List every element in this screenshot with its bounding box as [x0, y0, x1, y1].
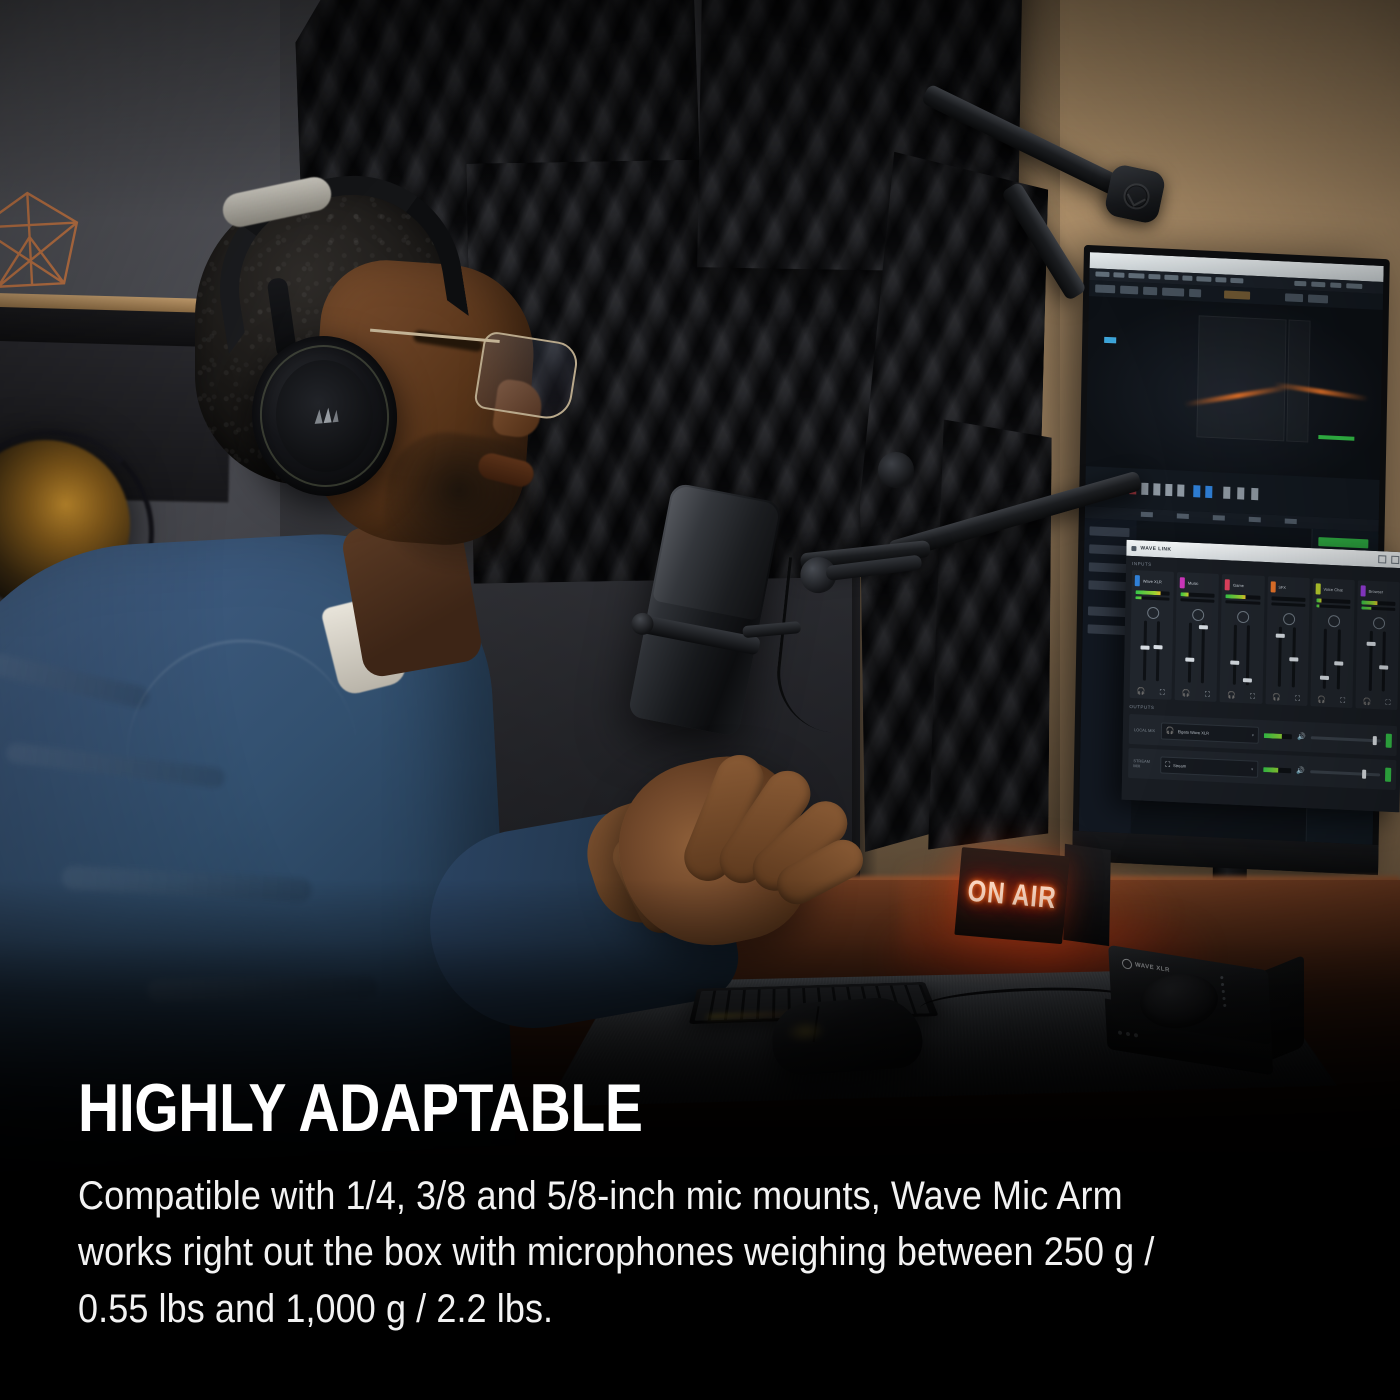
on-air-text: ON AIR: [966, 874, 1058, 917]
broadcast-icon: ⛶: [1250, 693, 1255, 700]
outputs-section-label: OUTPUTS: [1129, 704, 1154, 710]
output-device-select[interactable]: 🎧 Elgato Wave XLR ▾: [1161, 722, 1259, 743]
broadcast-icon: ⛶: [1295, 695, 1300, 702]
headphone-icon: 🎧: [1272, 694, 1281, 701]
output-active-indicator: [1385, 768, 1391, 782]
channel-meter: [1136, 590, 1170, 596]
output-meter: [1263, 767, 1291, 773]
on-air-sign: ON AIR: [957, 851, 1109, 942]
channel-fader-local[interactable]: [1323, 629, 1327, 689]
marketing-hero-image: WAVE LINK INPUTS Wave XLR ▾ 🎧⛶: [0, 0, 1400, 1400]
wave-link-body: INPUTS Wave XLR ▾ 🎧⛶ Music ▾: [1122, 556, 1400, 813]
channel-meter: [1361, 600, 1395, 606]
channel-name: Voice Chat: [1323, 587, 1342, 593]
output-label: LOCAL MIX: [1134, 727, 1156, 733]
channel-name: Wave XLR: [1143, 578, 1162, 584]
channel-meter-secondary: [1135, 596, 1169, 601]
headphone-icon: 🎧: [1317, 696, 1326, 703]
wave-link-app-icon: [1131, 545, 1136, 550]
channel-fader-local[interactable]: [1143, 621, 1147, 681]
channel-knob-icon[interactable]: [1192, 609, 1204, 622]
mixer-channel[interactable]: Voice Chat ▾ 🎧⛶: [1310, 578, 1355, 708]
wave-link-window-title: WAVE LINK: [1140, 545, 1171, 552]
broadcast-icon: ⛶: [1205, 691, 1210, 698]
channel-knob-icon[interactable]: [1237, 611, 1249, 624]
chevron-down-icon[interactable]: ▾: [1251, 766, 1253, 771]
speaker-icon: 🔊: [1296, 767, 1305, 774]
headline: HIGHLY ADAPTABLE: [78, 1075, 1128, 1142]
channel-meter-secondary: [1271, 602, 1305, 607]
channel-meter: [1181, 592, 1215, 598]
mixer-channel[interactable]: Wave XLR ▾ 🎧⛶: [1130, 570, 1175, 700]
channel-meter: [1226, 594, 1260, 600]
eyeglass-temple: [370, 329, 500, 343]
mixer-channel[interactable]: Game ▾ 🎧⛶: [1220, 574, 1265, 704]
channel-fader-local[interactable]: [1233, 625, 1237, 685]
channel-meter: [1271, 596, 1305, 602]
channel-color-swatch: [1180, 577, 1185, 588]
channel-knob-icon[interactable]: [1328, 615, 1340, 628]
mixer-channel[interactable]: Music ▾ 🎧⛶: [1175, 572, 1220, 702]
chevron-down-icon[interactable]: ▾: [1252, 732, 1254, 737]
output-volume-slider[interactable]: [1310, 770, 1380, 776]
corsair-sails-logo-icon: [308, 405, 342, 428]
overlay-copy: HIGHLY ADAPTABLE Compatible with 1/4, 3/…: [78, 1075, 1328, 1338]
channel-color-swatch: [1315, 583, 1320, 594]
channel-color-swatch: [1360, 585, 1365, 596]
channel-fader-local[interactable]: [1278, 627, 1282, 687]
output-mixes[interactable]: LOCAL MIX 🎧 Elgato Wave XLR ▾ 🔊 STREAM M…: [1128, 714, 1397, 808]
speaker-icon: 🔊: [1297, 733, 1306, 740]
channel-knob-icon[interactable]: [1283, 613, 1295, 626]
broadcast-icon: ⛶: [1385, 700, 1390, 707]
channel-meter-secondary: [1226, 600, 1260, 605]
channel-color-swatch: [1270, 581, 1275, 592]
channel-meter-secondary: [1361, 606, 1395, 611]
on-air-sign-side: [1063, 844, 1111, 946]
channel-meter-secondary: [1181, 598, 1215, 603]
mic-arm-elbow-joint: [1103, 163, 1167, 225]
channel-name: Game: [1233, 583, 1244, 588]
mixer-channel-strips[interactable]: Wave XLR ▾ 🎧⛶ Music ▾: [1130, 570, 1400, 710]
inputs-section-label: INPUTS: [1132, 561, 1152, 567]
window-controls[interactable]: [1378, 555, 1399, 564]
headphone-icon: 🎧: [1137, 688, 1146, 695]
broadcast-icon: ⛶: [1165, 761, 1170, 768]
headphone-icon: 🎧: [1182, 690, 1191, 697]
output-label: STREAM MIX: [1133, 758, 1155, 769]
minimize-icon: [1378, 555, 1386, 563]
output-device-select[interactable]: ⛶ Stream ▾: [1160, 756, 1258, 777]
channel-meter-secondary: [1316, 604, 1350, 609]
mixer-channel[interactable]: Browser ▾ 🎧⛶: [1355, 580, 1400, 710]
output-volume-slider[interactable]: [1311, 736, 1381, 742]
mic-arm-mid-joint: [878, 452, 914, 488]
channel-fader-stream[interactable]: [1246, 625, 1250, 685]
channel-name: Browser: [1368, 589, 1383, 595]
output-device-name: Stream: [1173, 762, 1186, 768]
channel-name: Music: [1188, 581, 1199, 586]
acoustic-foam-panel: [928, 419, 1052, 850]
broadcast-icon: ⛶: [1160, 689, 1165, 696]
on-air-sign-face: ON AIR: [954, 847, 1069, 944]
mixer-channel[interactable]: SFX ▾ 🎧⛶: [1265, 576, 1310, 706]
channel-fader-stream[interactable]: [1201, 623, 1205, 683]
channel-fader-local[interactable]: [1188, 623, 1192, 683]
headphone-icon: 🎧: [1362, 699, 1371, 706]
daw-video-canvas: [1086, 296, 1383, 480]
channel-fader-stream[interactable]: [1156, 621, 1160, 681]
channel-fader-stream[interactable]: [1337, 629, 1341, 689]
body-copy: Compatible with 1/4, 3/8 and 5/8-inch mi…: [78, 1168, 1203, 1338]
channel-meter: [1316, 598, 1350, 604]
eyeglass-lens: [473, 330, 580, 422]
channel-fader-local[interactable]: [1368, 631, 1372, 691]
output-meter: [1264, 733, 1292, 739]
wave-link-window[interactable]: WAVE LINK INPUTS Wave XLR ▾ 🎧⛶: [1122, 540, 1400, 813]
output-device-name: Elgato Wave XLR: [1178, 729, 1209, 735]
channel-color-swatch: [1135, 575, 1140, 586]
channel-name: SFX: [1278, 585, 1286, 590]
channel-knob-icon[interactable]: [1373, 617, 1385, 630]
maximize-icon: [1391, 556, 1399, 564]
broadcast-icon: ⛶: [1340, 698, 1345, 705]
headphone-icon: 🎧: [1166, 727, 1175, 734]
headphone-icon: 🎧: [1227, 692, 1236, 699]
channel-fader-stream[interactable]: [1291, 627, 1295, 687]
channel-fader-stream[interactable]: [1382, 631, 1386, 691]
elgato-logo-icon: [1121, 181, 1152, 212]
output-active-indicator: [1386, 734, 1392, 748]
channel-knob-icon[interactable]: [1147, 607, 1159, 620]
channel-color-swatch: [1225, 579, 1230, 590]
